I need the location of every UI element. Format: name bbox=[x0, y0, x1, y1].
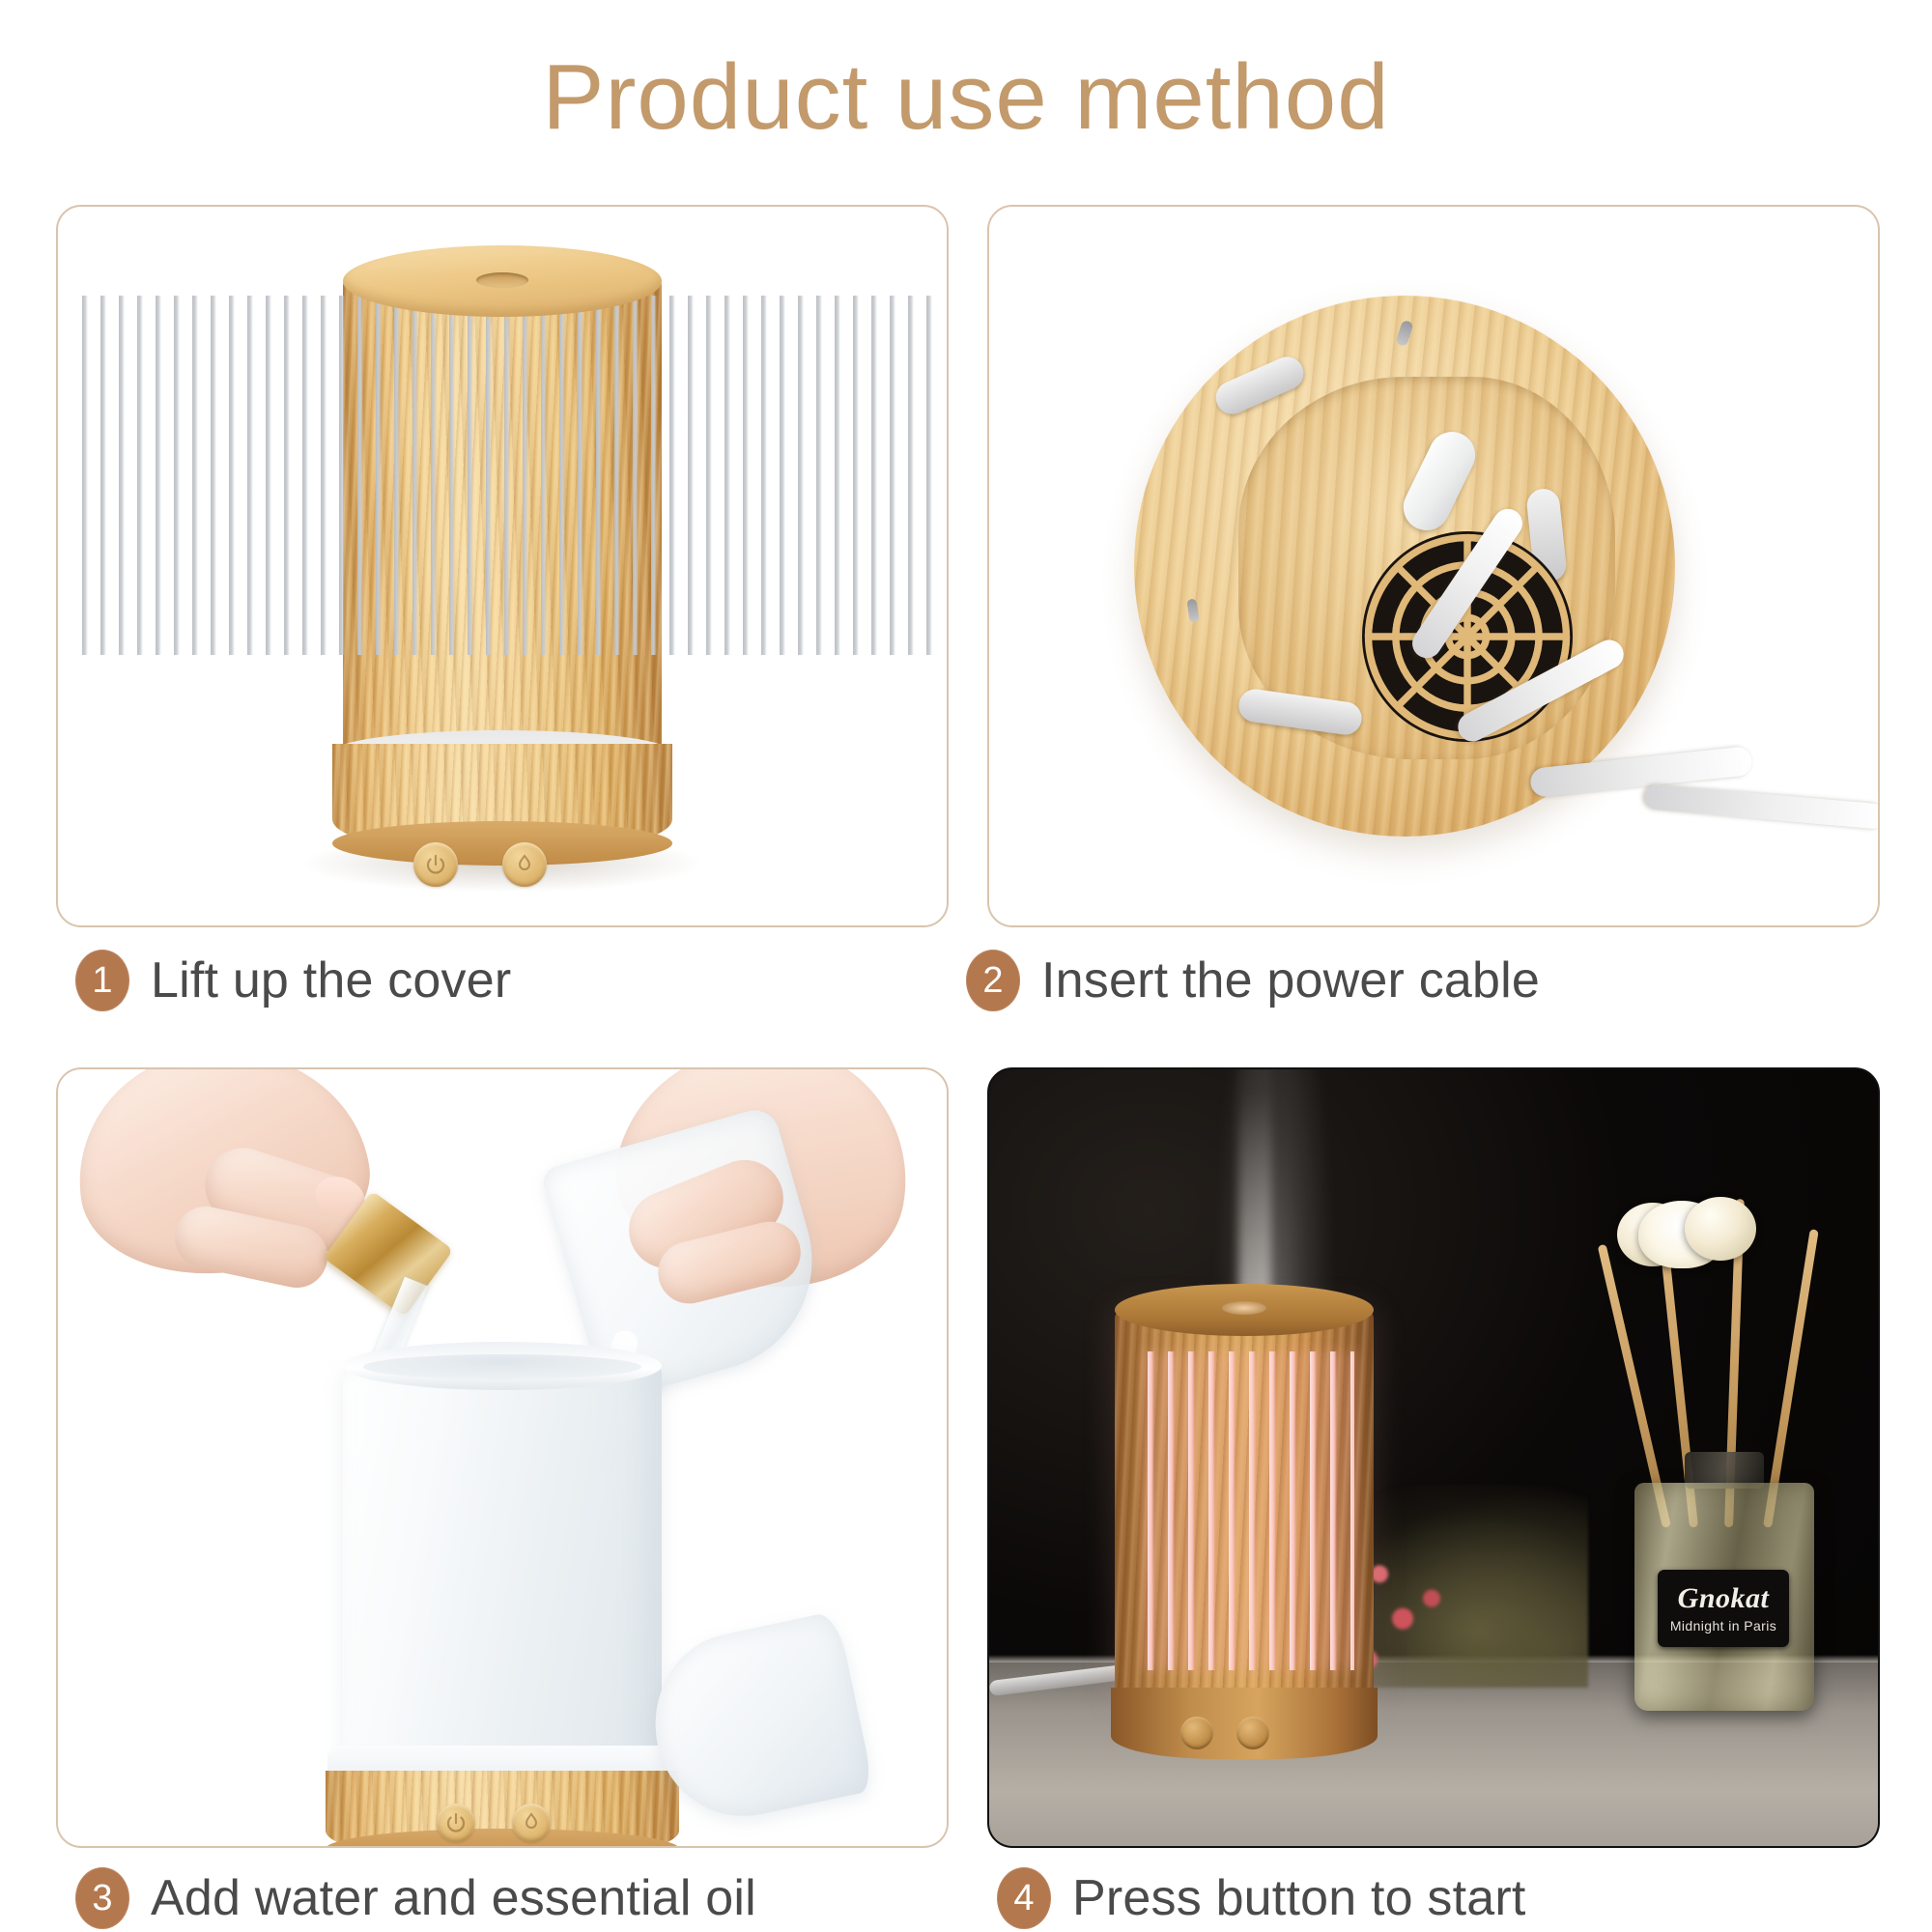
mist-icon bbox=[512, 1804, 551, 1842]
tank-notch bbox=[220, 1348, 241, 1380]
step-3-badge: 3 bbox=[75, 1867, 129, 1929]
step-3-label: Add water and essential oil bbox=[151, 1869, 756, 1927]
mist-icon bbox=[502, 842, 547, 887]
step-3-image-panel bbox=[56, 1067, 949, 1848]
photo-diffuser-assembled bbox=[58, 207, 947, 925]
step-3-caption: 3 Add water and essential oil bbox=[75, 1860, 756, 1932]
step-4-image-panel: Gnokat Midnight in Paris bbox=[987, 1067, 1880, 1848]
power-cable-segment bbox=[1643, 783, 1880, 830]
bottle-label: Gnokat Midnight in Paris bbox=[1658, 1570, 1789, 1647]
mist-plume bbox=[1217, 1067, 1333, 1305]
page-title: Product use method bbox=[0, 46, 1932, 149]
mist-icon bbox=[1236, 1717, 1269, 1749]
step-2-caption: 2 Insert the power cable bbox=[966, 942, 1540, 1019]
tank-rim bbox=[343, 1342, 662, 1390]
diffuser-slot-grille bbox=[70, 296, 935, 655]
step-2-badge: 2 bbox=[966, 950, 1020, 1011]
power-icon bbox=[1180, 1717, 1213, 1749]
step-1-caption: 1 Lift up the cover bbox=[75, 942, 511, 1019]
bottle-scent-name: Midnight in Paris bbox=[1670, 1619, 1776, 1633]
diffuser-top-cover bbox=[1115, 1284, 1374, 1336]
step-2-image-panel bbox=[987, 205, 1880, 927]
inner-water-tank bbox=[343, 1359, 662, 1775]
diffuser-glowing-slots bbox=[1134, 1351, 1354, 1670]
photo-diffuser-underside bbox=[989, 207, 1878, 925]
step-4-caption: 4 Press button to start bbox=[997, 1860, 1526, 1932]
power-icon bbox=[413, 842, 458, 887]
diffuser-top-cover bbox=[343, 245, 662, 317]
step-1-badge: 1 bbox=[75, 950, 129, 1011]
rattan-ball bbox=[1685, 1197, 1756, 1261]
step-4-badge: 4 bbox=[997, 1867, 1051, 1929]
photo-fill-tank bbox=[58, 1069, 947, 1846]
step-4-label: Press button to start bbox=[1072, 1869, 1526, 1927]
mist-column bbox=[1238, 1067, 1271, 1299]
step-1-image-panel bbox=[56, 205, 949, 927]
photo-diffuser-running: Gnokat Midnight in Paris bbox=[989, 1069, 1878, 1846]
power-icon bbox=[437, 1804, 475, 1842]
bottle-brand-name: Gnokat bbox=[1678, 1584, 1770, 1613]
step-2-label: Insert the power cable bbox=[1041, 952, 1540, 1009]
step-1-label: Lift up the cover bbox=[151, 952, 511, 1009]
infographic-page: Product use method bbox=[0, 0, 1932, 1932]
